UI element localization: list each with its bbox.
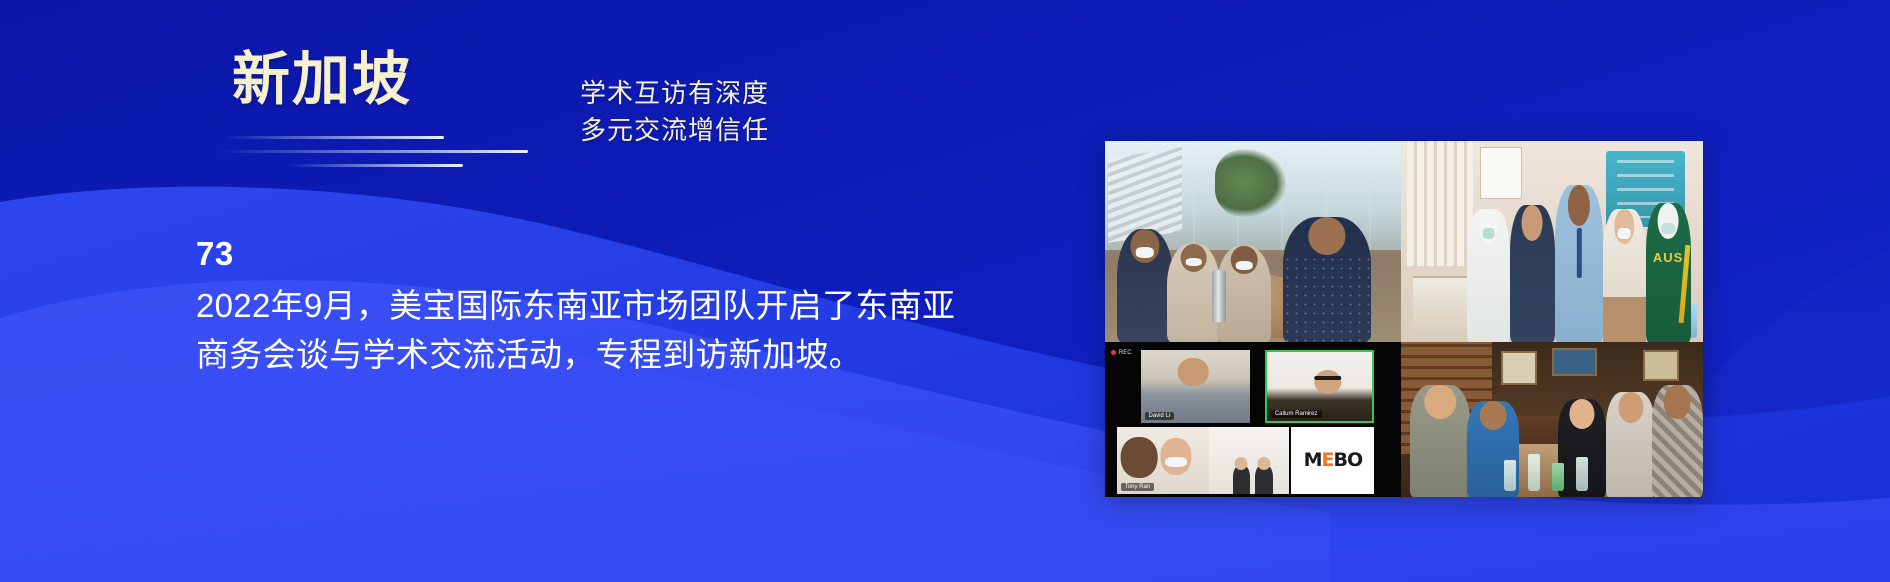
person — [1283, 217, 1372, 342]
recording-label: REC — [1119, 350, 1132, 356]
video-tile: David Li — [1141, 350, 1251, 423]
title-rule-1 — [224, 136, 444, 139]
body-block: 73 2022年9月，美宝国际东南亚市场团队开启了东南亚商务会谈与学术交流活动，… — [196, 236, 986, 380]
video-tile — [1209, 427, 1289, 494]
collage-row-top: AUS — [1105, 141, 1703, 342]
person — [1603, 209, 1645, 342]
drink-bottle — [1528, 454, 1540, 491]
slide-canvas: 新加坡 学术互访有深度 多元交流增信任 73 2022年9月，美宝国际东南亚市场… — [0, 0, 1890, 582]
cafe-meeting-photo — [1105, 141, 1401, 342]
drink-bottle — [1552, 463, 1564, 491]
record-dot-icon — [1111, 350, 1116, 355]
collage-row-bottom: REC David Li Callum Ramirez Tony Ran — [1105, 342, 1703, 497]
video-tile: Tony Ran — [1117, 427, 1209, 494]
title-rule-2 — [218, 150, 528, 153]
participant-name-tag: David Li — [1145, 412, 1175, 420]
person — [1606, 392, 1654, 497]
wall-frame — [1501, 351, 1537, 385]
person — [1652, 385, 1703, 497]
tagline-line-1: 学术互访有深度 — [580, 75, 769, 112]
body-paragraph: 2022年9月，美宝国际东南亚市场团队开启了东南亚商务会谈与学术交流活动，专程到… — [196, 282, 986, 380]
participant-name-tag: Callum Ramirez — [1271, 410, 1322, 418]
video-tile-active-speaker: Callum Ramirez — [1265, 350, 1375, 423]
greenery — [1215, 149, 1286, 217]
person — [1467, 209, 1509, 342]
photo-collage: AUS REC David Li Callum Ramirez — [1105, 141, 1703, 497]
mebo-logo: MEBO — [1304, 451, 1363, 470]
heading-block: 新加坡 — [232, 50, 532, 111]
participant-name-tag: Tony Ran — [1121, 483, 1154, 491]
title-underline-rules — [218, 136, 548, 182]
person — [1410, 385, 1470, 497]
drink-bottle — [1504, 460, 1516, 491]
mebo-logo-e: E — [1322, 449, 1334, 471]
person: AUS — [1646, 203, 1691, 342]
video-tile-brand-logo: MEBO — [1291, 427, 1374, 494]
dinner-group-photo — [1401, 342, 1703, 497]
window-blinds — [1407, 141, 1473, 266]
mebo-logo-bo: BO — [1334, 449, 1363, 471]
drink-bottle — [1576, 457, 1588, 491]
person — [1510, 205, 1555, 342]
mebo-logo-m: M — [1304, 449, 1322, 471]
person — [1555, 185, 1603, 342]
video-call-photo: REC David Li Callum Ramirez Tony Ran — [1105, 342, 1401, 497]
item-number: 73 — [196, 236, 986, 272]
wall-frame — [1552, 348, 1597, 376]
person — [1117, 229, 1173, 342]
tagline-line-2: 多元交流增信任 — [580, 112, 769, 149]
recording-indicator: REC — [1111, 350, 1132, 356]
thermos-flask — [1212, 270, 1227, 322]
tagline-block: 学术互访有深度 多元交流增信任 — [580, 75, 769, 149]
page-title: 新加坡 — [232, 50, 532, 111]
wall-poster — [1480, 147, 1522, 199]
clinic-group-photo: AUS — [1401, 141, 1703, 342]
title-rule-3 — [288, 164, 463, 167]
wall-frame — [1643, 350, 1679, 381]
